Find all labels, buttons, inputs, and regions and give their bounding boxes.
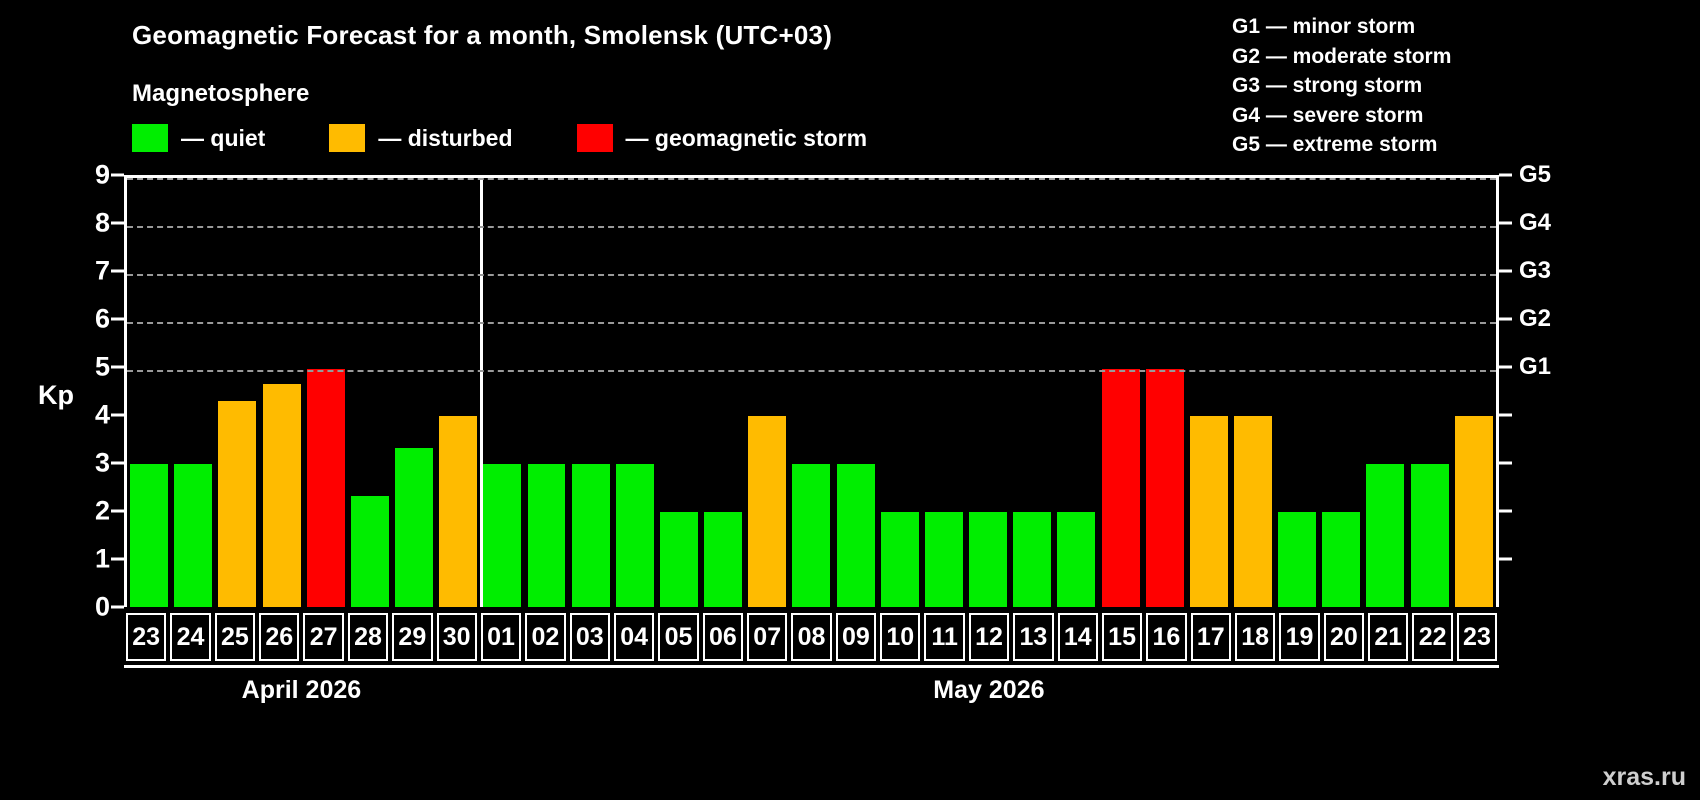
y-tick-label-0: 0 — [95, 592, 110, 623]
bar-cell — [436, 178, 480, 607]
bar-may-15[interactable] — [1102, 369, 1140, 607]
gridline-kp-6 — [127, 322, 1496, 324]
bar-may-11[interactable] — [925, 512, 963, 607]
bar-cell — [1231, 178, 1275, 607]
day-label-may-05[interactable]: 05 — [658, 613, 698, 661]
day-label-may-19[interactable]: 19 — [1279, 613, 1319, 661]
legend-item-storm: — geomagnetic storm — [577, 124, 868, 152]
y-tick-mark-3 — [111, 462, 124, 465]
day-label-cell: 25 — [213, 613, 257, 661]
day-label-cell: 15 — [1100, 613, 1144, 661]
bar-cell — [569, 178, 613, 607]
day-label-cell: 04 — [612, 613, 656, 661]
day-label-may-03[interactable]: 03 — [570, 613, 610, 661]
day-label-cell: 07 — [745, 613, 789, 661]
day-label-april-26[interactable]: 26 — [259, 613, 299, 661]
bar-may-02[interactable] — [528, 464, 566, 607]
bar-cell — [480, 178, 524, 607]
bar-cell — [1452, 178, 1496, 607]
legend-label-quiet: — quiet — [181, 125, 265, 152]
bar-cell — [1143, 178, 1187, 607]
day-label-may-01[interactable]: 01 — [481, 613, 521, 661]
day-label-cell: 01 — [479, 613, 523, 661]
y-tick-mark-0 — [111, 606, 124, 609]
legend: — quiet— disturbed— geomagnetic storm — [132, 124, 867, 152]
day-label-may-07[interactable]: 07 — [747, 613, 787, 661]
y-tick-label-4: 4 — [95, 400, 110, 431]
bar-cell — [1010, 178, 1054, 607]
day-label-cell: 09 — [834, 613, 878, 661]
bar-may-20[interactable] — [1322, 512, 1360, 607]
bar-may-17[interactable] — [1190, 416, 1228, 607]
bar-april-25[interactable] — [218, 401, 256, 607]
bar-cell — [392, 178, 436, 607]
bar-cell — [348, 178, 392, 607]
legend-swatch-quiet — [132, 124, 168, 152]
bar-may-06[interactable] — [704, 512, 742, 607]
chart-plot-area — [124, 175, 1499, 607]
day-label-may-06[interactable]: 06 — [703, 613, 743, 661]
bar-cell — [1363, 178, 1407, 607]
day-label-cell: 28 — [346, 613, 390, 661]
bar-may-08[interactable] — [792, 464, 830, 607]
day-label-cell: 16 — [1144, 613, 1188, 661]
bar-april-30[interactable] — [439, 416, 477, 607]
day-label-cell: 20 — [1322, 613, 1366, 661]
day-label-may-17[interactable]: 17 — [1191, 613, 1231, 661]
g-tick-mark-minor-1 — [1499, 558, 1512, 561]
y-tick-label-3: 3 — [95, 448, 110, 479]
day-label-may-23[interactable]: 23 — [1457, 613, 1497, 661]
day-label-april-30[interactable]: 30 — [437, 613, 477, 661]
y-tick-label-1: 1 — [95, 544, 110, 575]
g-tick-mark-g5 — [1499, 174, 1512, 177]
y-tick-mark-4 — [111, 414, 124, 417]
day-label-april-24[interactable]: 24 — [170, 613, 210, 661]
g-tick-label-g3: G3 — [1519, 257, 1551, 285]
g-tick-mark-minor-4 — [1499, 414, 1512, 417]
storm-scale-row-g1: G1 — minor storm — [1232, 12, 1451, 42]
bar-cell — [613, 178, 657, 607]
day-label-may-10[interactable]: 10 — [880, 613, 920, 661]
bar-april-29[interactable] — [395, 448, 433, 607]
y-tick-label-9: 9 — [95, 160, 110, 191]
g-tick-label-g1: G1 — [1519, 353, 1551, 381]
bar-cell — [171, 178, 215, 607]
bar-cell — [834, 178, 878, 607]
day-label-cell: 23 — [1455, 613, 1499, 661]
page-title: Geomagnetic Forecast for a month, Smolen… — [132, 20, 832, 51]
y-tick-mark-9 — [111, 174, 124, 177]
bar-may-09[interactable] — [837, 464, 875, 607]
bar-may-01[interactable] — [483, 464, 521, 607]
legend-item-quiet: — quiet — [132, 124, 265, 152]
g-tick-label-g5: G5 — [1519, 161, 1551, 189]
day-label-april-25[interactable]: 25 — [215, 613, 255, 661]
day-label-may-16[interactable]: 16 — [1146, 613, 1186, 661]
bar-may-14[interactable] — [1057, 512, 1095, 607]
day-label-cell: 05 — [656, 613, 700, 661]
g-tick-mark-minor-2 — [1499, 510, 1512, 513]
bar-series — [127, 178, 1496, 607]
bar-may-12[interactable] — [969, 512, 1007, 607]
day-label-cell: 13 — [1011, 613, 1055, 661]
gridline-kp-5 — [127, 370, 1496, 372]
legend-item-disturbed: — disturbed — [329, 124, 512, 152]
y-tick-mark-7 — [111, 270, 124, 273]
y-tick-label-7: 7 — [95, 256, 110, 287]
bar-cell — [215, 178, 259, 607]
legend-label-disturbed: — disturbed — [378, 125, 512, 152]
day-label-cell: 18 — [1233, 613, 1277, 661]
month-caption-may: May 2026 — [933, 676, 1044, 705]
bar-cell — [966, 178, 1010, 607]
y-tick-mark-8 — [111, 222, 124, 225]
axis-baseline — [124, 665, 1499, 668]
g-tick-mark-g2 — [1499, 318, 1512, 321]
day-label-cell: 27 — [301, 613, 345, 661]
g-tick-mark-g3 — [1499, 270, 1512, 273]
bar-april-23[interactable] — [130, 464, 168, 607]
g-tick-label-g2: G2 — [1519, 305, 1551, 333]
day-label-cell: 30 — [435, 613, 479, 661]
bar-cell — [259, 178, 303, 607]
bar-may-19[interactable] — [1278, 512, 1316, 607]
y-axis: 0123456789 — [78, 175, 124, 607]
bar-april-27[interactable] — [307, 369, 345, 607]
g-tick-mark-minor-3 — [1499, 462, 1512, 465]
storm-scale-row-g5: G5 — extreme storm — [1232, 130, 1451, 160]
gridline-kp-9 — [127, 178, 1496, 180]
gridline-kp-8 — [127, 226, 1496, 228]
y-tick-mark-2 — [111, 510, 124, 513]
y-tick-mark-5 — [111, 366, 124, 369]
bar-cell — [1187, 178, 1231, 607]
bar-cell — [524, 178, 568, 607]
bar-cell — [1098, 178, 1142, 607]
gridline-kp-7 — [127, 274, 1496, 276]
day-label-cell: 03 — [568, 613, 612, 661]
day-label-april-23[interactable]: 23 — [126, 613, 166, 661]
day-label-may-08[interactable]: 08 — [791, 613, 831, 661]
day-label-may-11[interactable]: 11 — [924, 613, 964, 661]
g-tick-mark-g4 — [1499, 222, 1512, 225]
bar-may-05[interactable] — [660, 512, 698, 607]
bar-cell — [878, 178, 922, 607]
day-label-may-14[interactable]: 14 — [1058, 613, 1098, 661]
day-label-cell: 22 — [1410, 613, 1454, 661]
bar-cell — [127, 178, 171, 607]
day-label-cell: 29 — [390, 613, 434, 661]
y-tick-label-6: 6 — [95, 304, 110, 335]
bar-may-21[interactable] — [1366, 464, 1404, 607]
day-label-may-09[interactable]: 09 — [836, 613, 876, 661]
month-captions: April 2026May 2026 — [124, 676, 1499, 716]
day-label-may-12[interactable]: 12 — [969, 613, 1009, 661]
day-label-cell: 21 — [1366, 613, 1410, 661]
bar-may-23[interactable] — [1455, 416, 1493, 607]
day-label-cell: 24 — [168, 613, 212, 661]
day-label-may-13[interactable]: 13 — [1013, 613, 1053, 661]
day-label-april-27[interactable]: 27 — [303, 613, 343, 661]
y-tick-label-8: 8 — [95, 208, 110, 239]
day-label-may-22[interactable]: 22 — [1412, 613, 1452, 661]
day-label-cell: 12 — [967, 613, 1011, 661]
day-label-cell: 08 — [789, 613, 833, 661]
legend-spacer — [265, 138, 329, 139]
storm-scale-row-g2: G2 — moderate storm — [1232, 42, 1451, 72]
bar-april-24[interactable] — [174, 464, 212, 607]
legend-swatch-disturbed — [329, 124, 365, 152]
day-label-may-18[interactable]: 18 — [1235, 613, 1275, 661]
section-subtitle: Magnetosphere — [132, 80, 309, 108]
month-caption-april: April 2026 — [242, 676, 362, 705]
bar-may-04[interactable] — [616, 464, 654, 607]
day-label-cell: 02 — [523, 613, 567, 661]
day-label-may-02[interactable]: 02 — [525, 613, 565, 661]
day-label-may-04[interactable]: 04 — [614, 613, 654, 661]
day-label-cell: 06 — [701, 613, 745, 661]
day-label-cell: 10 — [878, 613, 922, 661]
bar-cell — [701, 178, 745, 607]
bar-cell — [657, 178, 701, 607]
storm-scale-row-g3: G3 — strong storm — [1232, 71, 1451, 101]
bar-cell — [1319, 178, 1363, 607]
bar-may-10[interactable] — [881, 512, 919, 607]
y-tick-mark-6 — [111, 318, 124, 321]
legend-swatch-storm — [577, 124, 613, 152]
bar-cell — [745, 178, 789, 607]
g-tick-mark-g1 — [1499, 366, 1512, 369]
day-label-cell: 11 — [922, 613, 966, 661]
storm-scale-legend: G1 — minor stormG2 — moderate stormG3 — … — [1232, 12, 1451, 160]
day-axis-labels: 2324252627282930010203040506070809101112… — [124, 613, 1499, 661]
y-tick-label-5: 5 — [95, 352, 110, 383]
bar-cell — [1275, 178, 1319, 607]
bar-may-16[interactable] — [1146, 369, 1184, 607]
bar-cell — [789, 178, 833, 607]
day-label-cell: 26 — [257, 613, 301, 661]
day-label-cell: 14 — [1056, 613, 1100, 661]
watermark: xras.ru — [1603, 763, 1686, 792]
day-label-april-28[interactable]: 28 — [348, 613, 388, 661]
bar-may-07[interactable] — [748, 416, 786, 607]
month-separator — [480, 178, 483, 607]
day-label-cell: 19 — [1277, 613, 1321, 661]
day-label-cell: 23 — [124, 613, 168, 661]
bar-may-13[interactable] — [1013, 512, 1051, 607]
y-tick-mark-1 — [111, 558, 124, 561]
bar-may-22[interactable] — [1411, 464, 1449, 607]
bar-april-28[interactable] — [351, 496, 389, 607]
bar-cell — [1054, 178, 1098, 607]
day-label-may-21[interactable]: 21 — [1368, 613, 1408, 661]
legend-label-storm: — geomagnetic storm — [626, 125, 868, 152]
day-label-april-29[interactable]: 29 — [392, 613, 432, 661]
y-axis-label: Kp — [38, 380, 74, 411]
day-label-may-15[interactable]: 15 — [1102, 613, 1142, 661]
legend-spacer — [513, 138, 577, 139]
bar-cell — [1408, 178, 1452, 607]
g-tick-label-g4: G4 — [1519, 209, 1551, 237]
bar-cell — [922, 178, 966, 607]
y-tick-label-2: 2 — [95, 496, 110, 527]
g-scale-axis: G1G2G3G4G5 — [1499, 175, 1569, 607]
bar-april-26[interactable] — [263, 384, 301, 607]
day-label-cell: 17 — [1189, 613, 1233, 661]
bar-cell — [304, 178, 348, 607]
storm-scale-row-g4: G4 — severe storm — [1232, 101, 1451, 131]
bar-may-18[interactable] — [1234, 416, 1272, 607]
bar-may-03[interactable] — [572, 464, 610, 607]
day-label-may-20[interactable]: 20 — [1324, 613, 1364, 661]
